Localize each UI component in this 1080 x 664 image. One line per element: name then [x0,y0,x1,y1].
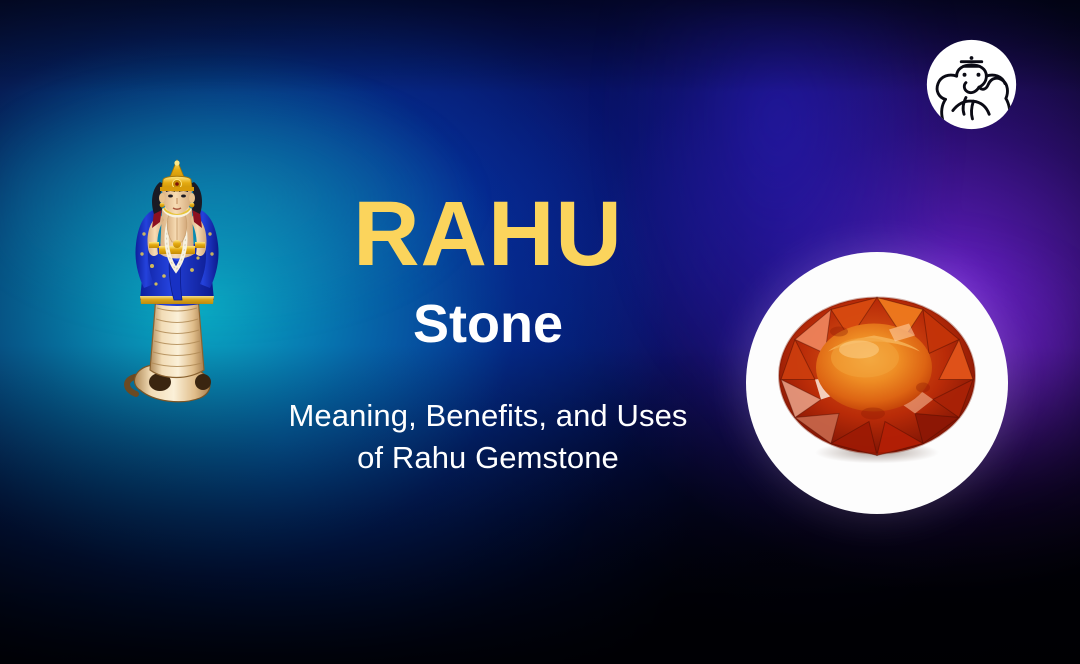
description-line-2: of Rahu Gemstone [218,437,758,480]
rahu-stone-banner: RAHU Stone Meaning, Benefits, and Uses o… [0,0,1080,664]
ganesha-logo[interactable] [925,38,1018,131]
headline-block: RAHU Stone Meaning, Benefits, and Uses o… [218,188,758,480]
description-line-1: Meaning, Benefits, and Uses [218,395,758,438]
page-title: RAHU [218,188,758,280]
hessonite-gemstone [773,291,981,467]
gemstone-medallion [746,252,1008,514]
page-subtitle: Stone [218,296,758,353]
page-description: Meaning, Benefits, and Uses of Rahu Gems… [218,395,758,481]
